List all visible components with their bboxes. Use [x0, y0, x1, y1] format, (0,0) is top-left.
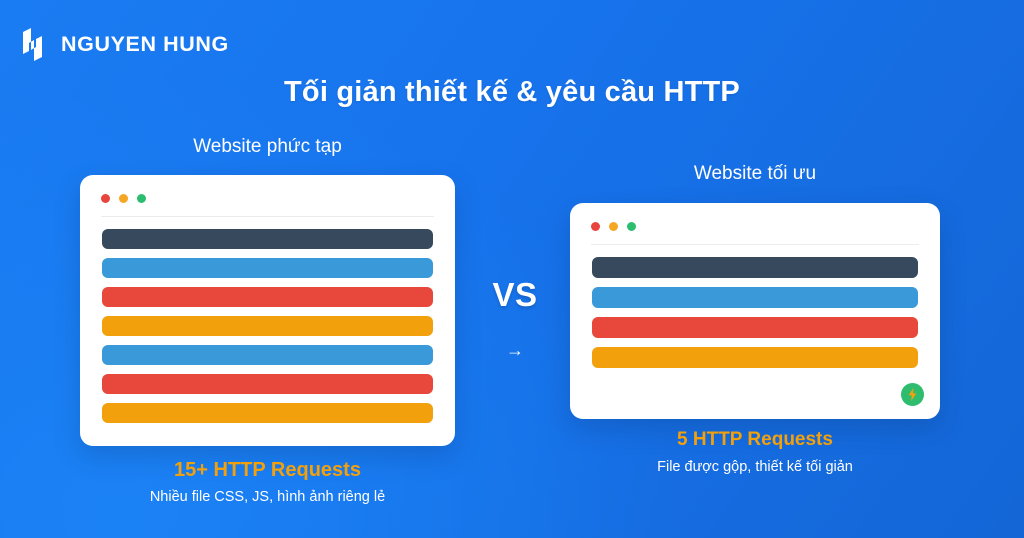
page-title: Tối giản thiết kế & yêu cầu HTTP [0, 75, 1024, 110]
right-arrow-icon: → [470, 341, 560, 359]
window-traffic-lights [591, 222, 636, 231]
resource-bar [592, 317, 918, 338]
lightning-bolt-icon [908, 388, 917, 401]
left-request-count: 15+ HTTP Requests [80, 457, 455, 483]
resource-bar [102, 316, 433, 336]
browser-window-optimized [570, 203, 940, 419]
infographic-canvas: NGUYEN HUNG Tối giản thiết kế & yêu cầu … [0, 0, 1024, 538]
geometric-n-logo-icon [20, 26, 50, 64]
resource-bar [592, 287, 918, 308]
left-panel-heading: Website phức tạp [80, 136, 455, 159]
right-panel-caption: 5 HTTP Requests File được gộp, thiết kế … [570, 428, 940, 477]
resource-bar [102, 403, 433, 423]
right-request-note: File được gộp, thiết kế tối giản [570, 457, 940, 477]
resource-bar [102, 229, 433, 249]
brand-logo: NGUYEN HUNG [20, 26, 229, 64]
resource-bar [102, 345, 433, 365]
window-minimize-dot-icon [119, 194, 128, 203]
resource-bar [592, 347, 918, 368]
resource-bar [102, 258, 433, 278]
window-close-dot-icon [591, 222, 600, 231]
resource-bar [102, 287, 433, 307]
window-maximize-dot-icon [137, 194, 146, 203]
window-toolbar-divider [101, 216, 434, 217]
speed-badge [901, 383, 924, 406]
window-maximize-dot-icon [627, 222, 636, 231]
resource-bar-list-complex [80, 229, 455, 423]
versus-separator: VS → [470, 278, 560, 359]
window-toolbar-divider [591, 244, 919, 245]
versus-label: VS [470, 278, 560, 311]
browser-window-complex [80, 175, 455, 446]
brand-name: NGUYEN HUNG [61, 34, 229, 56]
resource-bar [102, 374, 433, 394]
window-traffic-lights [101, 194, 146, 203]
left-request-note: Nhiều file CSS, JS, hình ảnh riêng lẻ [80, 487, 455, 507]
resource-bar-list-optimized [570, 257, 940, 368]
window-close-dot-icon [101, 194, 110, 203]
right-request-count: 5 HTTP Requests [570, 428, 940, 453]
resource-bar [592, 257, 918, 278]
left-panel-caption: 15+ HTTP Requests Nhiều file CSS, JS, hì… [80, 457, 455, 507]
right-panel-heading: Website tối ưu [570, 163, 940, 186]
window-minimize-dot-icon [609, 222, 618, 231]
